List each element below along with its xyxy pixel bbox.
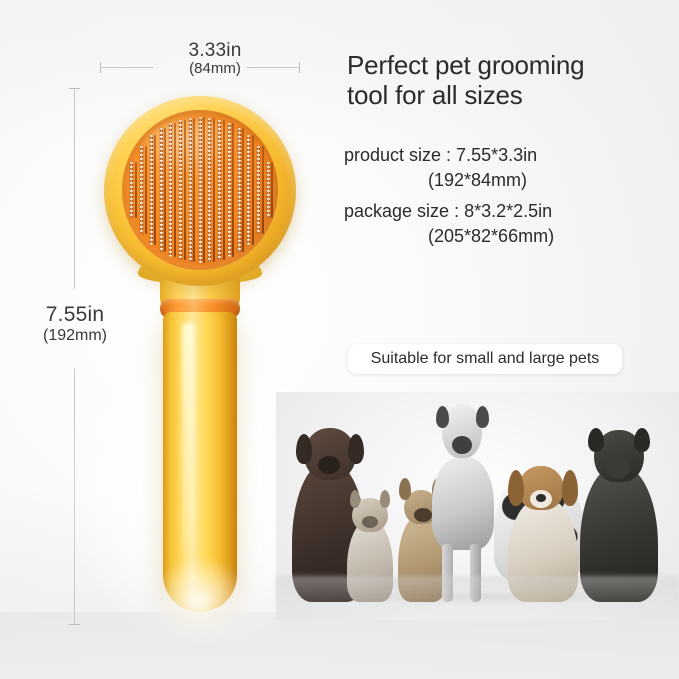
dog-muzzle [452,436,472,454]
pin-row [208,118,211,263]
product-size-label: product size : 7.55*3.3in [344,146,674,164]
pin-slot [184,120,186,261]
pin-slot [232,123,234,257]
pin-slot [262,146,264,234]
pin-slot [213,118,215,263]
product-size-mm: (192*84mm) [344,171,674,189]
pin-slot [164,128,166,252]
dog-ear-left [508,470,524,506]
pin-row [130,162,133,218]
handle-tip-glow [150,556,250,646]
dog-muzzle [606,458,630,478]
title-line-2: tool for all sizes [347,80,667,110]
page-title: Perfect pet grooming tool for all sizes [347,50,667,111]
dog-ear-left [399,478,411,500]
pin-row [140,146,143,234]
pin-slot [154,135,156,244]
dog-great-dane [424,402,500,602]
pin-slot [252,135,254,244]
brush-pin-bed [122,110,278,270]
dog-ear-right [348,434,364,464]
pin-row [199,117,202,263]
dog-ear-left [296,434,312,464]
pin-slot [242,128,244,252]
pin-slot [145,146,147,234]
product-infographic: 3.33in (84mm) 7.55in (192mm) Perfect pet… [0,0,679,679]
dog-muzzle [362,516,378,528]
group-of-dogs-photo [276,392,679,620]
package-size-mm: (205*82*66mm) [344,227,674,245]
dog-muzzle [318,456,340,474]
pin-row [267,162,270,218]
pin-row [257,146,260,234]
suitability-caption: Suitable for small and large pets [348,344,622,374]
specs-block: product size : 7.55*3.3in (192*84mm) pac… [344,146,674,245]
dog-ear-right [634,428,650,452]
title-line-1: Perfect pet grooming [347,50,667,80]
handle-highlight [182,322,195,592]
dog-nose [536,494,546,502]
pin-row [160,128,163,252]
dog-ear-left [436,406,449,428]
dog-ear-left [588,428,604,452]
pin-slot [203,117,205,263]
suitability-caption-text: Suitable for small and large pets [371,350,600,368]
pin-row [218,120,221,261]
pin-row [150,135,153,244]
pin-row [238,128,241,252]
brush-pins [122,110,278,270]
photo-reflection [276,576,679,620]
package-size-label: package size : 8*3.2*2.5in [344,202,674,220]
pin-row [189,118,192,263]
pin-row [169,123,172,257]
pin-row [228,123,231,257]
pin-slot [135,162,137,218]
pin-slot [193,118,195,263]
pin-slot [271,162,273,218]
dog-body [432,458,494,550]
pin-row [247,135,250,244]
dog-ear-left [350,490,360,508]
dog-ear-right [380,490,390,508]
pin-slot [223,120,225,261]
pin-row [179,120,182,261]
pin-slot [174,123,176,257]
dog-ear-right [476,406,489,428]
